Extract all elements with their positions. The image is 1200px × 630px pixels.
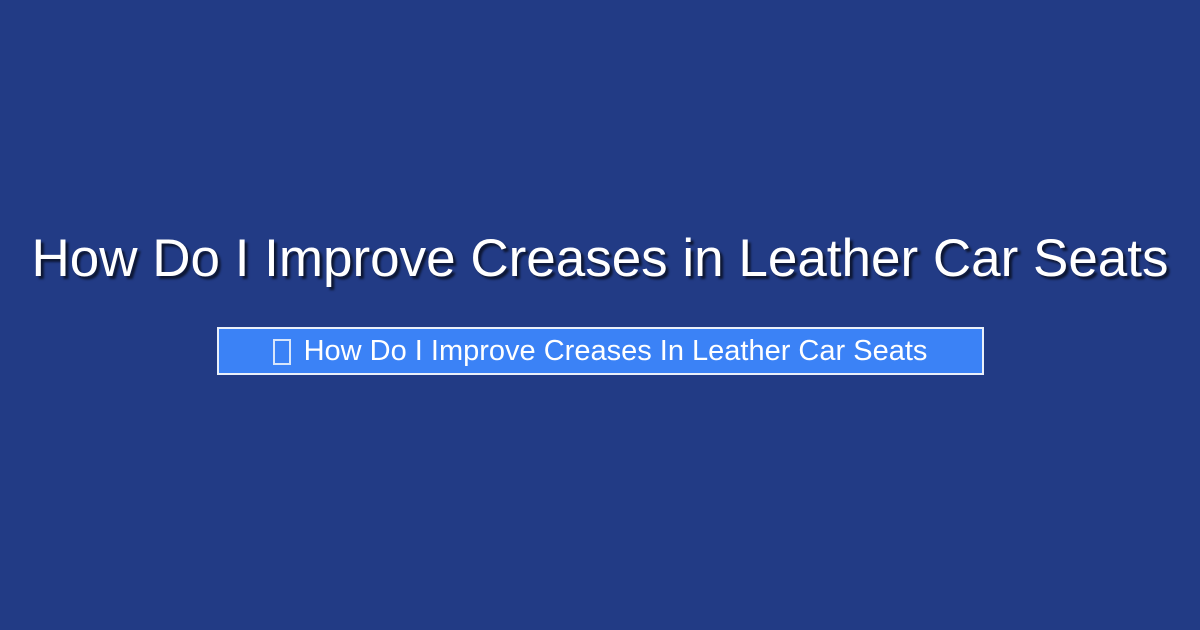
- page-title: How Do I Improve Creases in Leather Car …: [0, 228, 1200, 291]
- social-card: How Do I Improve Creases in Leather Car …: [0, 0, 1200, 630]
- headline-badge-button[interactable]: How Do I Improve Creases In Leather Car …: [217, 327, 984, 375]
- badge-label: How Do I Improve Creases In Leather Car …: [304, 337, 928, 366]
- missing-glyph-tofu-icon: [273, 339, 291, 365]
- badge-row: How Do I Improve Creases In Leather Car …: [0, 327, 1200, 375]
